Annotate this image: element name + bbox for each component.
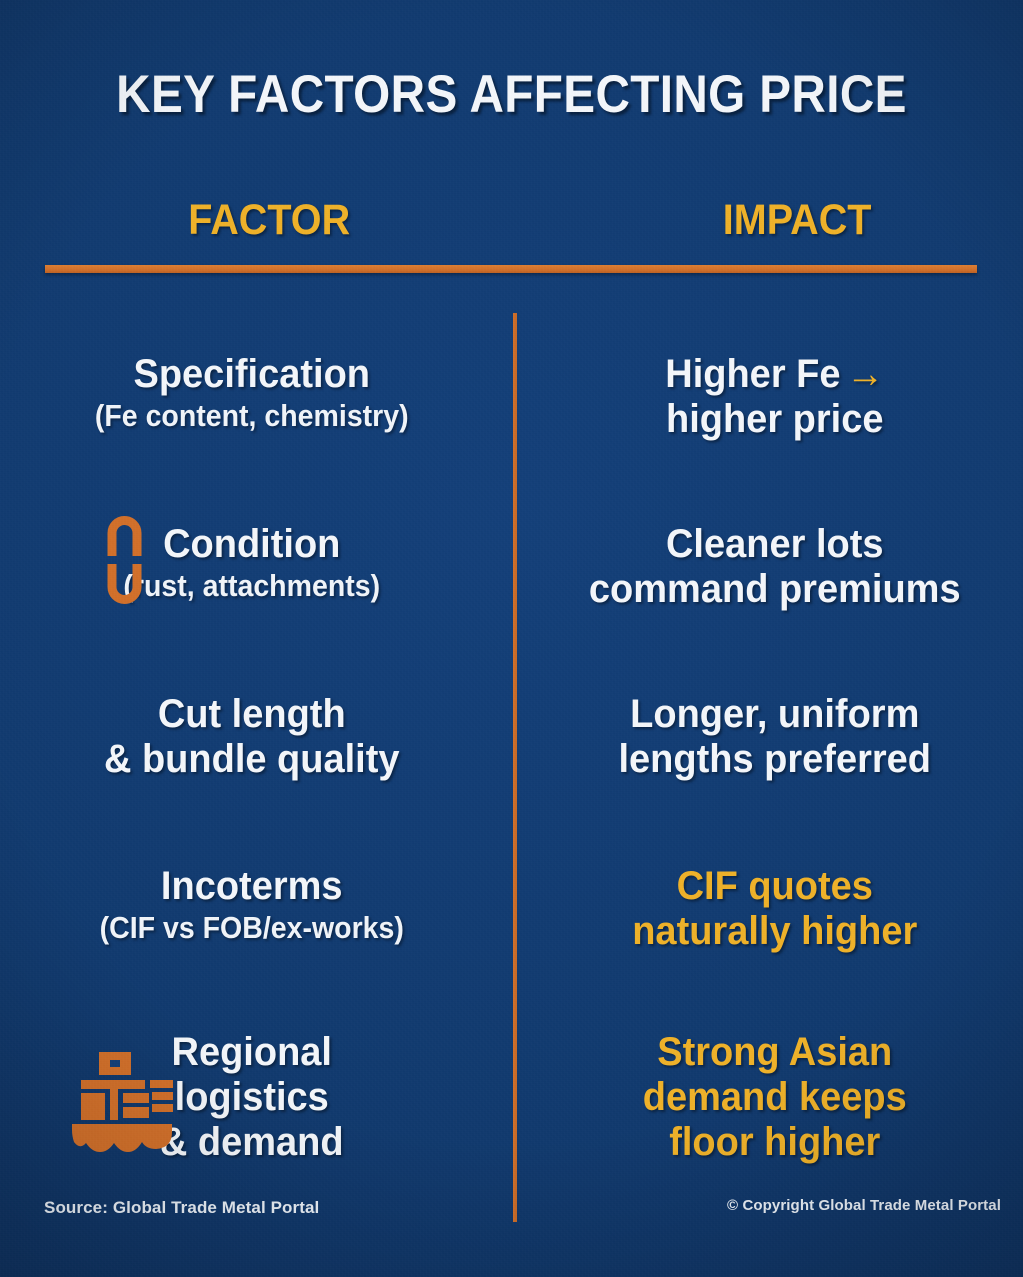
factor-detail: & bundle quality bbox=[37, 737, 466, 782]
right-arrow-icon: → bbox=[846, 352, 884, 396]
factor-cell: Cut length & bundle quality bbox=[0, 670, 512, 842]
source-label: Source: Global Trade Metal Portal bbox=[44, 1198, 319, 1218]
copyright-label: © Copyright Global Trade Metal Portal bbox=[727, 1197, 1001, 1214]
factor-cell: Incoterms (CIF vs FOB/ex-works) bbox=[0, 842, 512, 1014]
impact-line-2: higher price bbox=[559, 397, 990, 442]
page-title: KEY FACTORS AFFECTING PRICE bbox=[51, 66, 972, 124]
factor-detail: (CIF vs FOB/ex-works) bbox=[44, 909, 459, 946]
impact-cell: Cleaner lots command premiums bbox=[512, 502, 1023, 670]
column-header-factor: FACTOR bbox=[21, 196, 504, 245]
impact-line-2: command premiums bbox=[559, 567, 990, 612]
table-row: Condition (rust, attachments) Cleaner lo… bbox=[0, 502, 1023, 670]
infographic-canvas: KEY FACTORS AFFECTING PRICE FACTOR IMPAC… bbox=[0, 0, 1023, 1277]
impact-cell: Longer, uniform lengths preferred bbox=[512, 670, 1023, 842]
column-headers: FACTOR IMPACT bbox=[0, 196, 1023, 245]
impact-line-2: naturally higher bbox=[559, 909, 990, 954]
column-header-impact: IMPACT bbox=[547, 196, 1023, 245]
cargo-ship-icon bbox=[66, 1048, 178, 1156]
impact-line-1: CIF quotes bbox=[559, 864, 990, 909]
header-divider-rule bbox=[45, 265, 977, 273]
factor-title: Specification bbox=[37, 352, 466, 397]
impact-line-3: floor higher bbox=[559, 1120, 990, 1165]
table-row: Specification (Fe content, chemistry) Hi… bbox=[0, 330, 1023, 502]
factor-title: Incoterms bbox=[37, 864, 466, 909]
impact-line-1: Strong Asian bbox=[559, 1030, 990, 1075]
impact-line-1: Longer, uniform bbox=[559, 692, 990, 737]
impact-line-2: lengths preferred bbox=[559, 737, 990, 782]
impact-cell: Strong Asian demand keeps floor higher bbox=[512, 1014, 1023, 1194]
factor-cell: Specification (Fe content, chemistry) bbox=[0, 330, 512, 502]
factor-title: Cut length bbox=[37, 692, 466, 737]
factor-cell: Condition (rust, attachments) bbox=[0, 502, 512, 670]
impact-cell: CIF quotes naturally higher bbox=[512, 842, 1023, 1014]
chain-link-icon bbox=[102, 516, 148, 604]
impact-text: Higher Fe bbox=[665, 352, 840, 396]
impact-line-2: demand keeps bbox=[559, 1075, 990, 1120]
table-row: Incoterms (CIF vs FOB/ex-works) CIF quot… bbox=[0, 842, 1023, 1014]
factor-detail: (Fe content, chemistry) bbox=[44, 397, 459, 434]
impact-line-1: Higher Fe→ bbox=[559, 352, 990, 397]
impact-line-1: Cleaner lots bbox=[559, 522, 990, 567]
table-row: Cut length & bundle quality Longer, unif… bbox=[0, 670, 1023, 842]
impact-cell: Higher Fe→ higher price bbox=[512, 330, 1023, 502]
